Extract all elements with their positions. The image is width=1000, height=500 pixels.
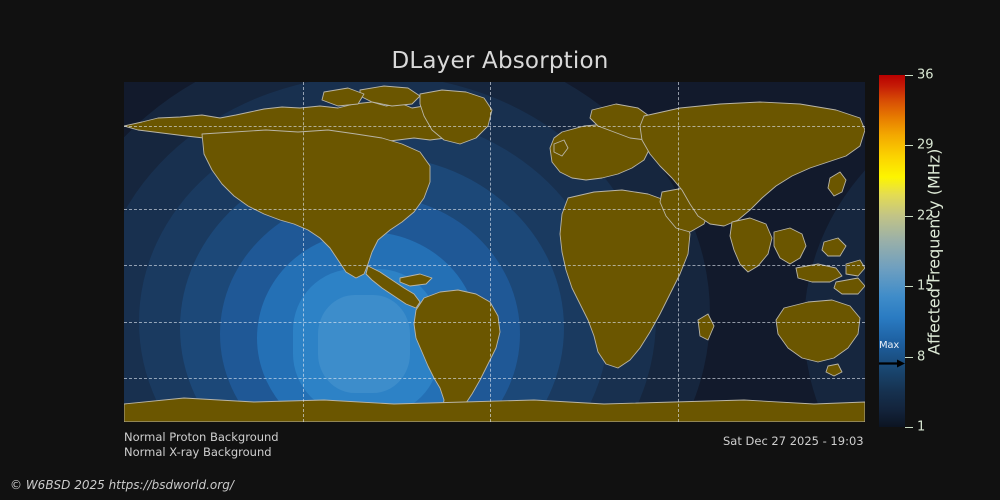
max-marker-label: Max xyxy=(879,341,899,351)
colorbar-tick-36 xyxy=(905,75,913,76)
colorbar-gradient xyxy=(879,75,905,427)
timestamp-label: Sat Dec 27 2025 - 19:03 xyxy=(723,434,864,448)
colorbar[interactable]: 36 29 22 15 8 1 xyxy=(879,75,905,427)
colorbar-tick-1 xyxy=(905,427,913,428)
copyright-notice: © W6BSD 2025 https://bsdworld.org/ xyxy=(10,478,234,492)
gridline-lat-m30 xyxy=(124,322,865,323)
gridline-lon-0 xyxy=(490,82,491,422)
dlayer-absorption-screen: DLayer Absorption xyxy=(0,0,1000,500)
max-marker-arrow-icon xyxy=(879,353,905,362)
gridline-lat-60 xyxy=(124,126,865,127)
gridline-lon-minus90 xyxy=(303,82,304,422)
gridline-lat-0 xyxy=(124,265,865,266)
world-map-panel[interactable] xyxy=(124,82,865,422)
xray-background-status: Normal X-ray Background xyxy=(124,445,272,459)
colorbar-max-marker: Max xyxy=(879,341,909,365)
gridline-lat-30 xyxy=(124,209,865,210)
colorbar-tick-22 xyxy=(905,216,913,217)
gridline-lon-90 xyxy=(678,82,679,422)
colorbar-tick-15 xyxy=(905,286,913,287)
land-layer xyxy=(124,82,865,422)
proton-background-status: Normal Proton Background xyxy=(124,430,279,444)
colorbar-axis-label: Affected Frequency (MHz) xyxy=(920,82,948,422)
colorbar-ticklabel-36: 36 xyxy=(917,68,934,83)
page-title: DLayer Absorption xyxy=(0,48,1000,74)
gridline-lat-m60 xyxy=(124,378,865,379)
colorbar-tick-29 xyxy=(905,145,913,146)
